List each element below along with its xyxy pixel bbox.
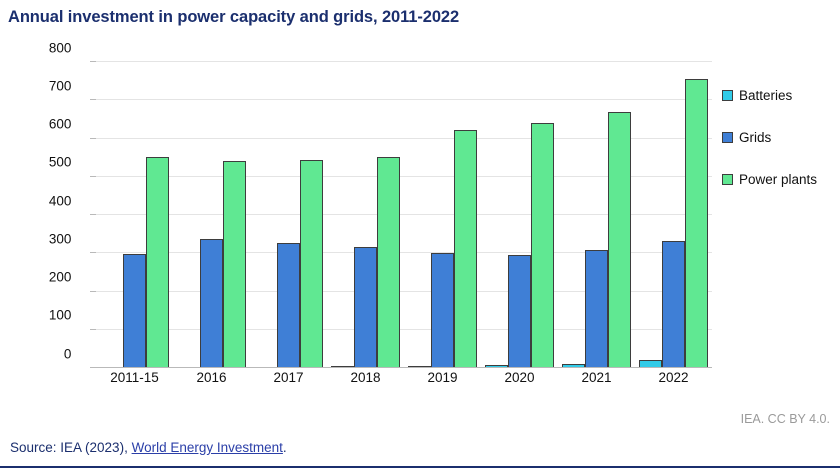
legend-item-batteries[interactable]: Batteries (722, 74, 837, 116)
y-tick-label: 100 (25, 308, 71, 323)
x-tick-label: 2021 (558, 370, 635, 385)
bar-plants[interactable] (146, 157, 169, 368)
x-tick-label: 2022 (635, 370, 712, 385)
plot-area: 0100200300400500600700800 (96, 62, 712, 368)
bar-plants[interactable] (531, 123, 554, 368)
y-tick-label: 0 (25, 346, 71, 361)
bar-grids[interactable] (123, 254, 146, 368)
y-tick-label: 300 (25, 231, 71, 246)
x-axis-line (96, 367, 712, 369)
chart-page: Annual investment in power capacity and … (0, 0, 840, 474)
bar-grids[interactable] (585, 250, 608, 368)
bar-grids[interactable] (508, 255, 531, 368)
bar-group (96, 62, 173, 368)
legend-swatch-icon (722, 174, 733, 185)
bar-group (558, 62, 635, 368)
y-tick-label: 700 (25, 78, 71, 93)
bar-plants[interactable] (608, 112, 631, 368)
source-link[interactable]: World Energy Investment (132, 440, 283, 455)
bar-group (481, 62, 558, 368)
bar-plants[interactable] (454, 130, 477, 368)
bar-group (327, 62, 404, 368)
source-suffix: . (283, 440, 287, 455)
x-axis-labels: 2011-152016201720182019202020212022 (96, 370, 712, 385)
bar-plants[interactable] (377, 157, 400, 368)
bar-plants[interactable] (685, 79, 708, 368)
legend-label: Batteries (739, 88, 792, 103)
chart-legend: BatteriesGridsPower plants (722, 74, 837, 200)
y-tick-label: 200 (25, 270, 71, 285)
bottom-rule (0, 466, 840, 468)
bar-grids[interactable] (200, 239, 223, 368)
bar-plants[interactable] (223, 161, 246, 368)
legend-swatch-icon (722, 90, 733, 101)
source-prefix: Source: IEA (2023), (10, 440, 132, 455)
legend-item-plants[interactable]: Power plants (722, 158, 837, 200)
page-title: Annual investment in power capacity and … (8, 8, 708, 27)
legend-label: Power plants (739, 172, 817, 187)
legend-label: Grids (739, 130, 771, 145)
y-tick-label: 400 (25, 193, 71, 208)
y-tick-label: 600 (25, 117, 71, 132)
bar-group (404, 62, 481, 368)
x-tick-label: 2011-15 (96, 370, 173, 385)
legend-item-grids[interactable]: Grids (722, 116, 837, 158)
x-tick-label: 2018 (327, 370, 404, 385)
cc-license-note: IEA. CC BY 4.0. (741, 412, 830, 426)
bar-grids[interactable] (431, 253, 454, 368)
y-tick-label: 500 (25, 155, 71, 170)
bar-group (250, 62, 327, 368)
x-tick-label: 2016 (173, 370, 250, 385)
x-tick-label: 2019 (404, 370, 481, 385)
legend-swatch-icon (722, 132, 733, 143)
x-tick-label: 2020 (481, 370, 558, 385)
bar-group (173, 62, 250, 368)
bar-group (635, 62, 712, 368)
bar-grids[interactable] (277, 243, 300, 368)
bar-plants[interactable] (300, 160, 323, 368)
bar-grids[interactable] (354, 247, 377, 368)
bar-grids[interactable] (662, 241, 685, 368)
source-note: Source: IEA (2023), World Energy Investm… (10, 440, 287, 455)
bar-groups (96, 62, 712, 368)
y-tick-label: 800 (25, 40, 71, 55)
x-tick-label: 2017 (250, 370, 327, 385)
